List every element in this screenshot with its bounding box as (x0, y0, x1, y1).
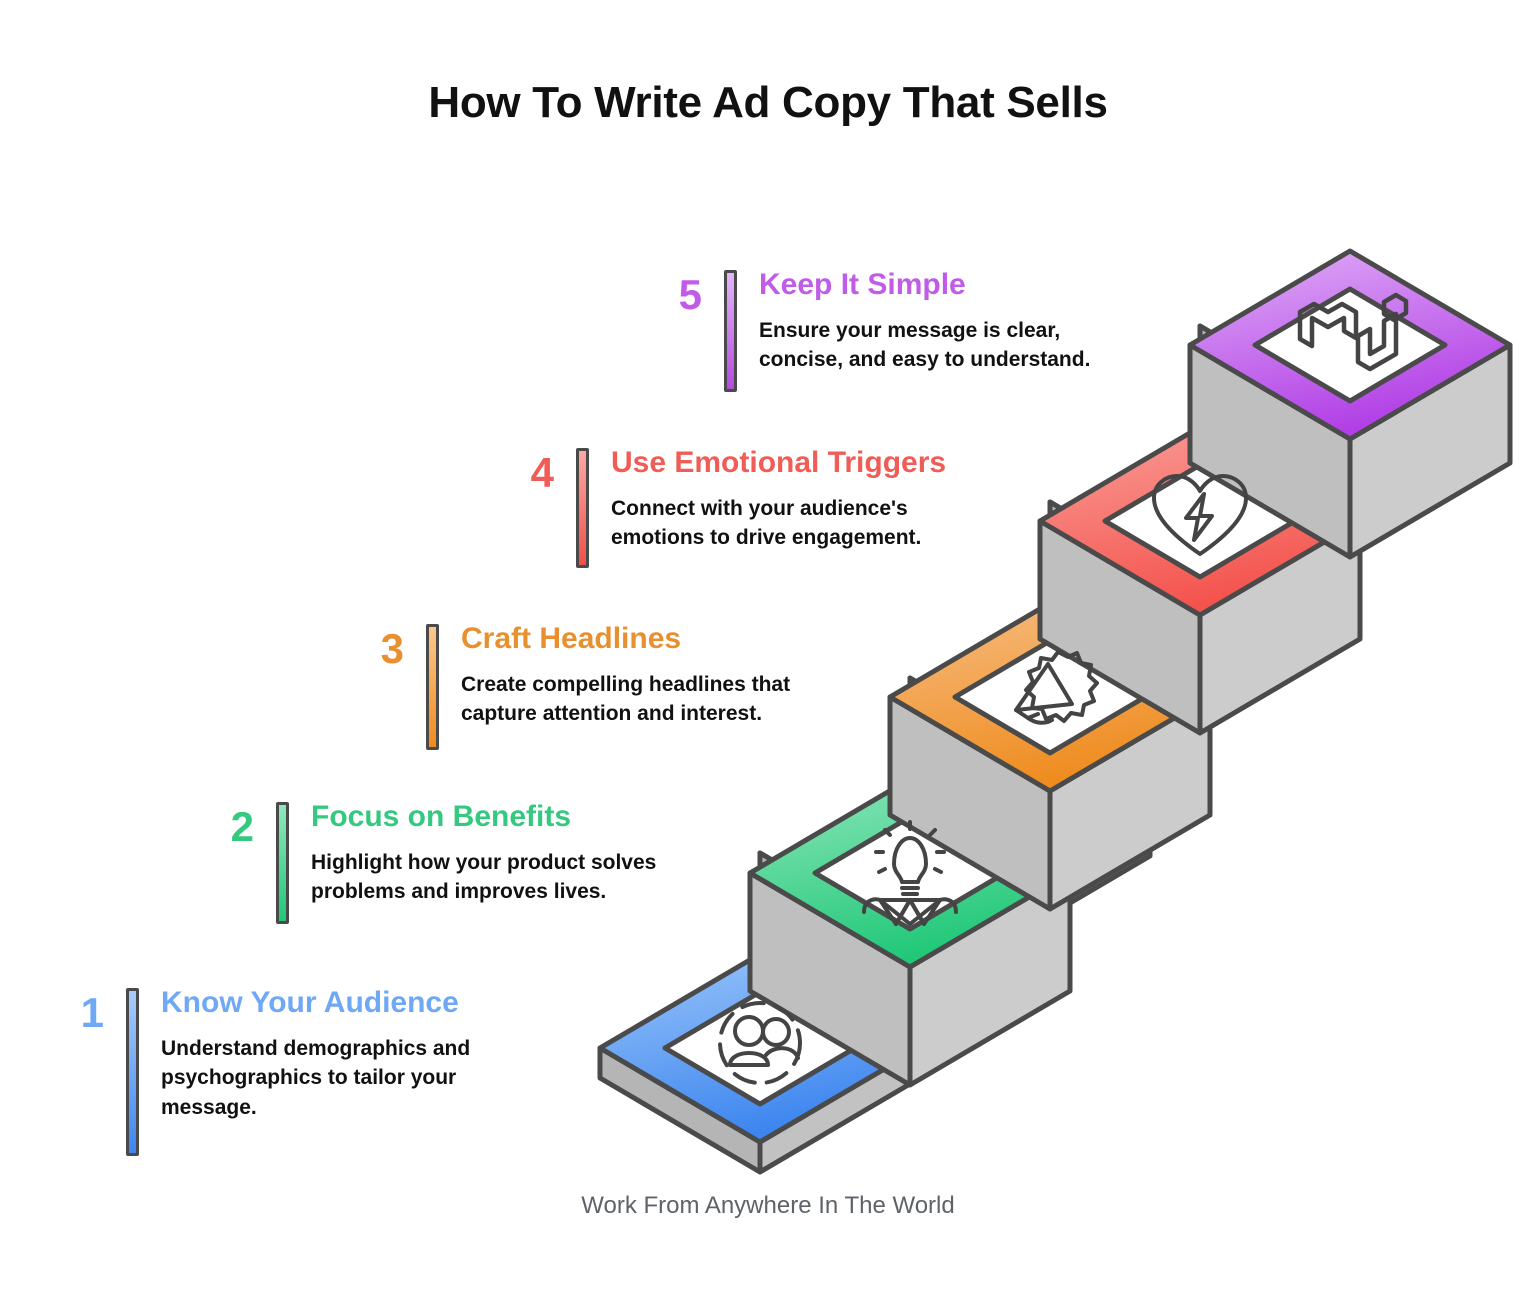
step-text-2: Focus on Benefits Highlight how your pro… (311, 800, 720, 907)
heart-bolt-icon (1154, 476, 1246, 554)
step-number-4: 4 (500, 446, 554, 494)
step-item-5[interactable]: 5 Keep It Simple Ensure your message is … (648, 268, 1148, 392)
audience-people-icon (720, 1003, 800, 1083)
step-title-3: Craft Headlines (461, 622, 850, 656)
step-title-4: Use Emotional Triggers (611, 446, 1000, 480)
step-1-tile (600, 954, 920, 1142)
isometric-mui-logo-icon (1300, 295, 1406, 369)
step-item-4[interactable]: 4 Use Emotional Triggers Connect with yo… (500, 446, 1000, 568)
step-number-2: 2 (200, 800, 254, 848)
step-accent-bar-3 (426, 624, 439, 750)
step-description-2: Highlight how your product solves proble… (311, 848, 720, 908)
step-text-3: Craft Headlines Create compelling headli… (461, 622, 850, 729)
step-3-riser (890, 697, 1210, 909)
lightbulb-gem-icon (864, 822, 956, 924)
step-number-1: 1 (50, 986, 104, 1034)
step-4-tile (1040, 427, 1360, 615)
riser-4-5 (1200, 326, 1440, 551)
page-title: How To Write Ad Copy That Sells (0, 78, 1536, 128)
step-text-4: Use Emotional Triggers Connect with your… (611, 446, 1000, 553)
step-title-1: Know Your Audience (161, 986, 550, 1020)
step-1-riser (600, 1048, 920, 1172)
step-description-4: Connect with your audience's emotions to… (611, 494, 1000, 554)
step-text-1: Know Your Audience Understand demographi… (161, 986, 550, 1123)
step-text-5: Keep It Simple Ensure your message is cl… (759, 268, 1148, 375)
step-accent-bar-1 (126, 988, 139, 1156)
step-accent-bar-5 (724, 270, 737, 392)
step-item-3[interactable]: 3 Craft Headlines Create compelling head… (350, 622, 850, 750)
step-accent-bar-4 (576, 448, 589, 568)
step-2-tile (750, 779, 1070, 967)
step-number-3: 3 (350, 622, 404, 670)
riser-1-2 (760, 853, 1000, 1078)
step-item-2[interactable]: 2 Focus on Benefits Highlight how your p… (200, 800, 720, 924)
step-description-1: Understand demographics and psychographi… (161, 1034, 550, 1123)
step-accent-bar-2 (276, 802, 289, 924)
step-3-tile (890, 603, 1210, 791)
riser-2-3 (910, 678, 1150, 903)
step-description-5: Ensure your message is clear, concise, a… (759, 316, 1148, 376)
footer-caption: Work From Anywhere In The World (0, 1192, 1536, 1220)
riser-3-4 (1050, 502, 1290, 727)
infographic-canvas: How To Write Ad Copy That Sells (0, 0, 1536, 1289)
step-4-riser (1040, 521, 1360, 733)
step-title-5: Keep It Simple (759, 268, 1148, 302)
step-description-3: Create compelling headlines that capture… (461, 670, 850, 730)
step-title-2: Focus on Benefits (311, 800, 720, 834)
step-number-5: 5 (648, 268, 702, 316)
step-5-tile (1190, 251, 1510, 439)
step-2-riser (750, 873, 1070, 1085)
step-item-1[interactable]: 1 Know Your Audience Understand demograp… (50, 986, 550, 1156)
megaphone-burst-icon (1016, 652, 1097, 723)
step-5-riser (1190, 345, 1510, 557)
